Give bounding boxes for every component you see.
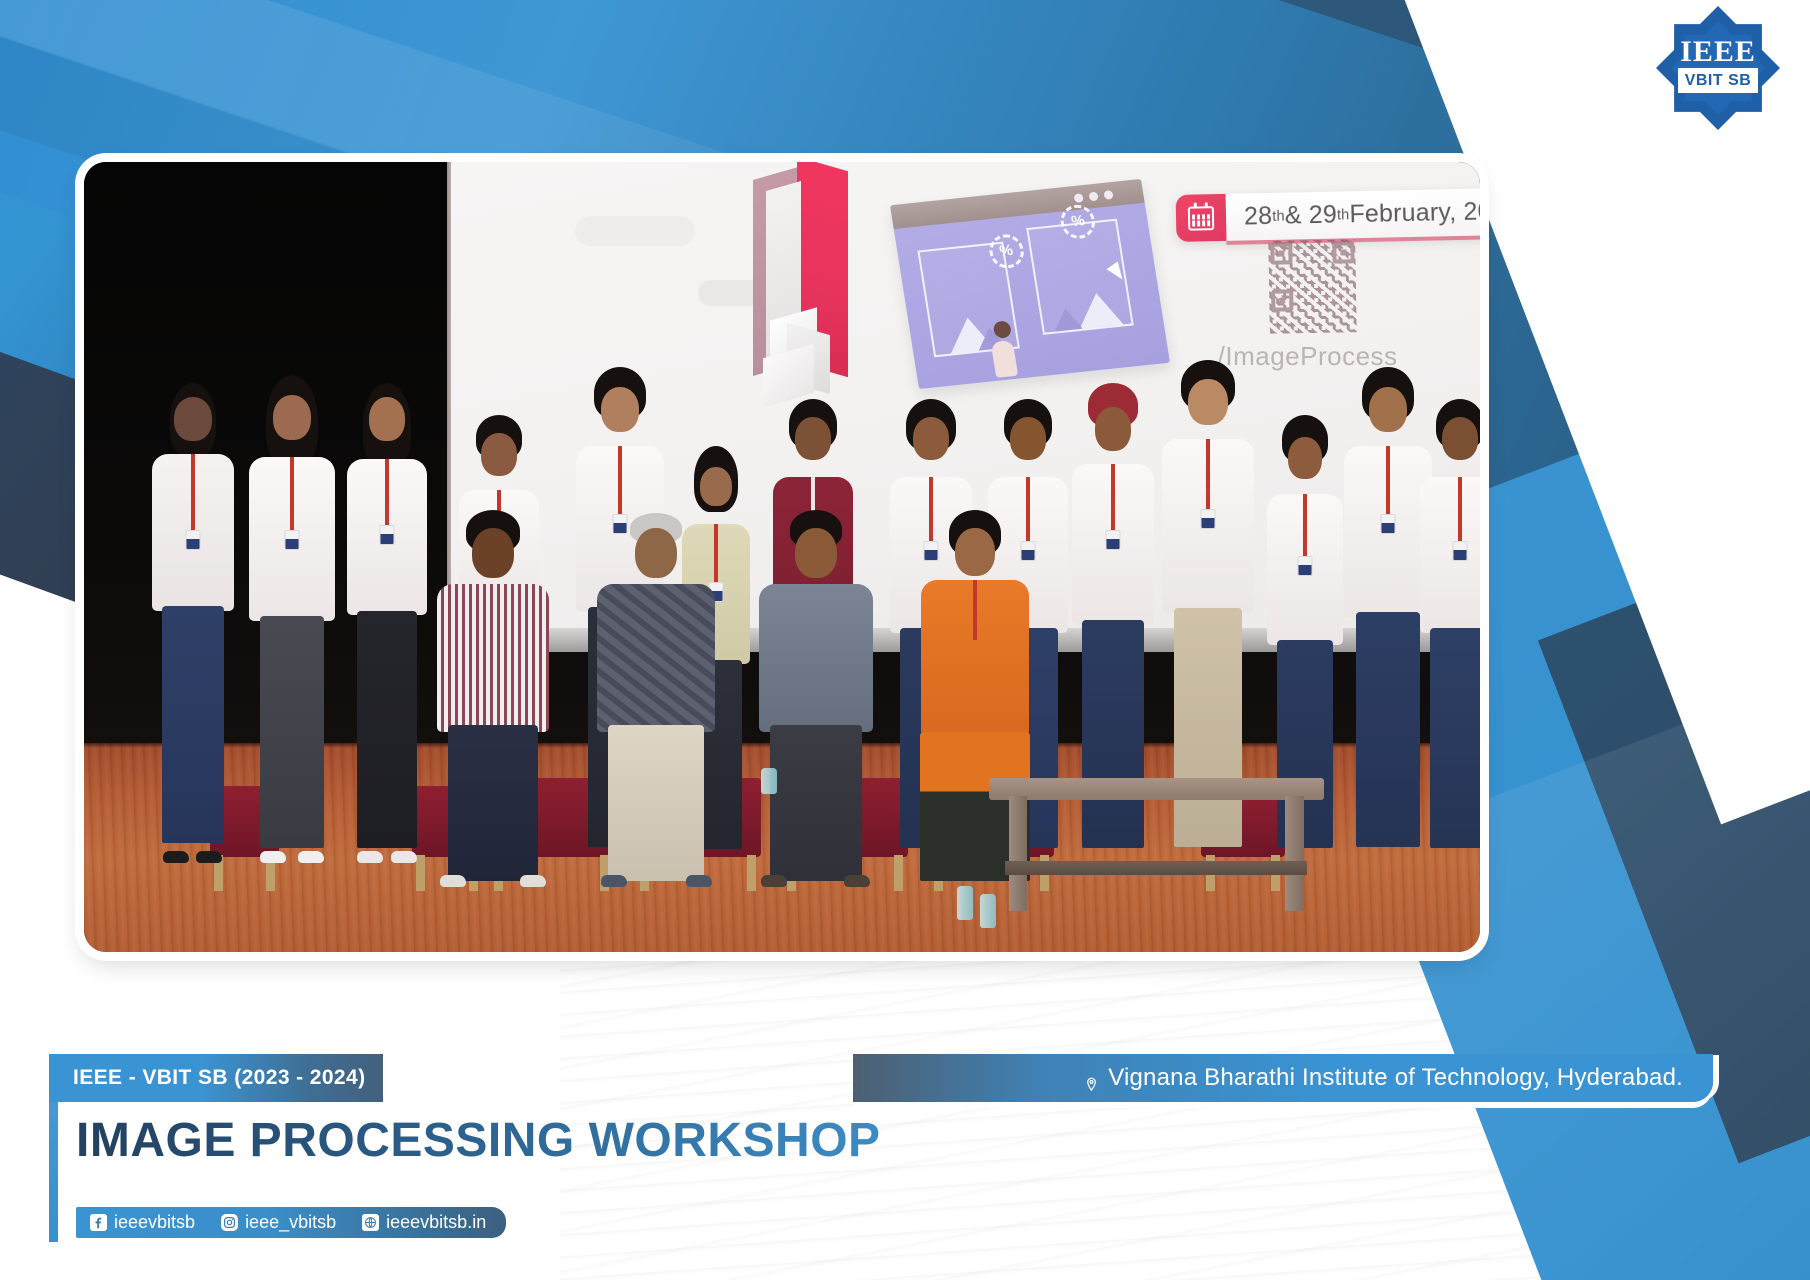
person-standing-2 <box>245 375 340 857</box>
page-title: IMAGE PROCESSING WORKSHOP <box>76 1113 881 1168</box>
date-separator: & 29 <box>1285 201 1338 231</box>
stage-table <box>989 778 1324 912</box>
logo-chapter-text: VBIT SB <box>1678 68 1758 93</box>
water-bottle-2 <box>980 894 996 928</box>
slide-date-pill: 28th & 29th February, 2024. <box>1176 187 1480 242</box>
social-item-facebook[interactable]: ieeevbitsb <box>90 1212 195 1233</box>
website-handle: ieeevbitsb.in <box>386 1212 486 1233</box>
table-leg-left <box>1009 796 1027 911</box>
chapter-label: IEEE - VBIT SB (2023 - 2024) <box>49 1054 383 1102</box>
social-links-bar: ieeevbitsb ieee_vbitsb ieeevbitsb.in <box>76 1207 506 1238</box>
table-leg-right <box>1285 796 1303 911</box>
person-standing-3 <box>342 383 431 857</box>
chart-peak-4 <box>1052 307 1083 332</box>
facebook-handle: ieeevbitsb <box>114 1212 195 1233</box>
table-shelf <box>1005 861 1307 874</box>
qr-eye-top-right <box>1332 241 1354 263</box>
water-bottle-3 <box>761 768 777 794</box>
qr-eye-bottom-left <box>1271 289 1293 311</box>
location-text: Vignana Bharathi Institute of Technology… <box>1108 1064 1683 1092</box>
person-standing-1 <box>147 383 239 857</box>
globe-icon <box>362 1214 379 1231</box>
poster-canvas: % % 28th & 29th February, 2024. <box>0 0 1810 1280</box>
social-item-instagram[interactable]: ieee_vbitsb <box>221 1212 336 1233</box>
qr-eye-top-left <box>1270 243 1292 265</box>
slide-art-browser-window: % % <box>890 179 1170 389</box>
caption-bar: IEEE - VBIT SB (2023 - 2024) Vignana Bha… <box>49 1054 1713 1102</box>
ieee-vbit-sb-logo: IEEE VBIT SB <box>1656 6 1780 130</box>
instagram-icon <box>221 1214 238 1231</box>
event-photo: % % 28th & 29th February, 2024. <box>84 162 1480 952</box>
location-pin-icon <box>1084 1071 1099 1086</box>
date-day-2-suffix: th <box>1337 207 1350 223</box>
location-bar: Vignana Bharathi Institute of Technology… <box>853 1054 1713 1102</box>
logo-ieee-text: IEEE <box>1656 35 1780 69</box>
slide-cloud-2 <box>575 216 695 246</box>
slide-date-text: 28th & 29th February, 2024. <box>1226 187 1480 241</box>
water-bottle-1 <box>957 886 973 920</box>
qr-code <box>1268 240 1357 335</box>
date-month-year: February, 2024. <box>1350 197 1480 230</box>
person-seated-3 <box>754 510 877 881</box>
calendar-icon <box>1176 194 1227 242</box>
date-day-1: 28 <box>1244 202 1273 232</box>
person-seated-1 <box>433 510 553 881</box>
table-top <box>989 778 1324 799</box>
social-item-website[interactable]: ieeevbitsb.in <box>362 1212 486 1233</box>
date-day-1-suffix: th <box>1273 209 1286 225</box>
event-photo-frame: % % 28th & 29th February, 2024. <box>84 162 1480 952</box>
instagram-handle: ieee_vbitsb <box>245 1212 336 1233</box>
person-seated-2 <box>594 510 720 881</box>
facebook-icon <box>90 1214 107 1231</box>
person-standing-14 <box>1417 399 1480 857</box>
